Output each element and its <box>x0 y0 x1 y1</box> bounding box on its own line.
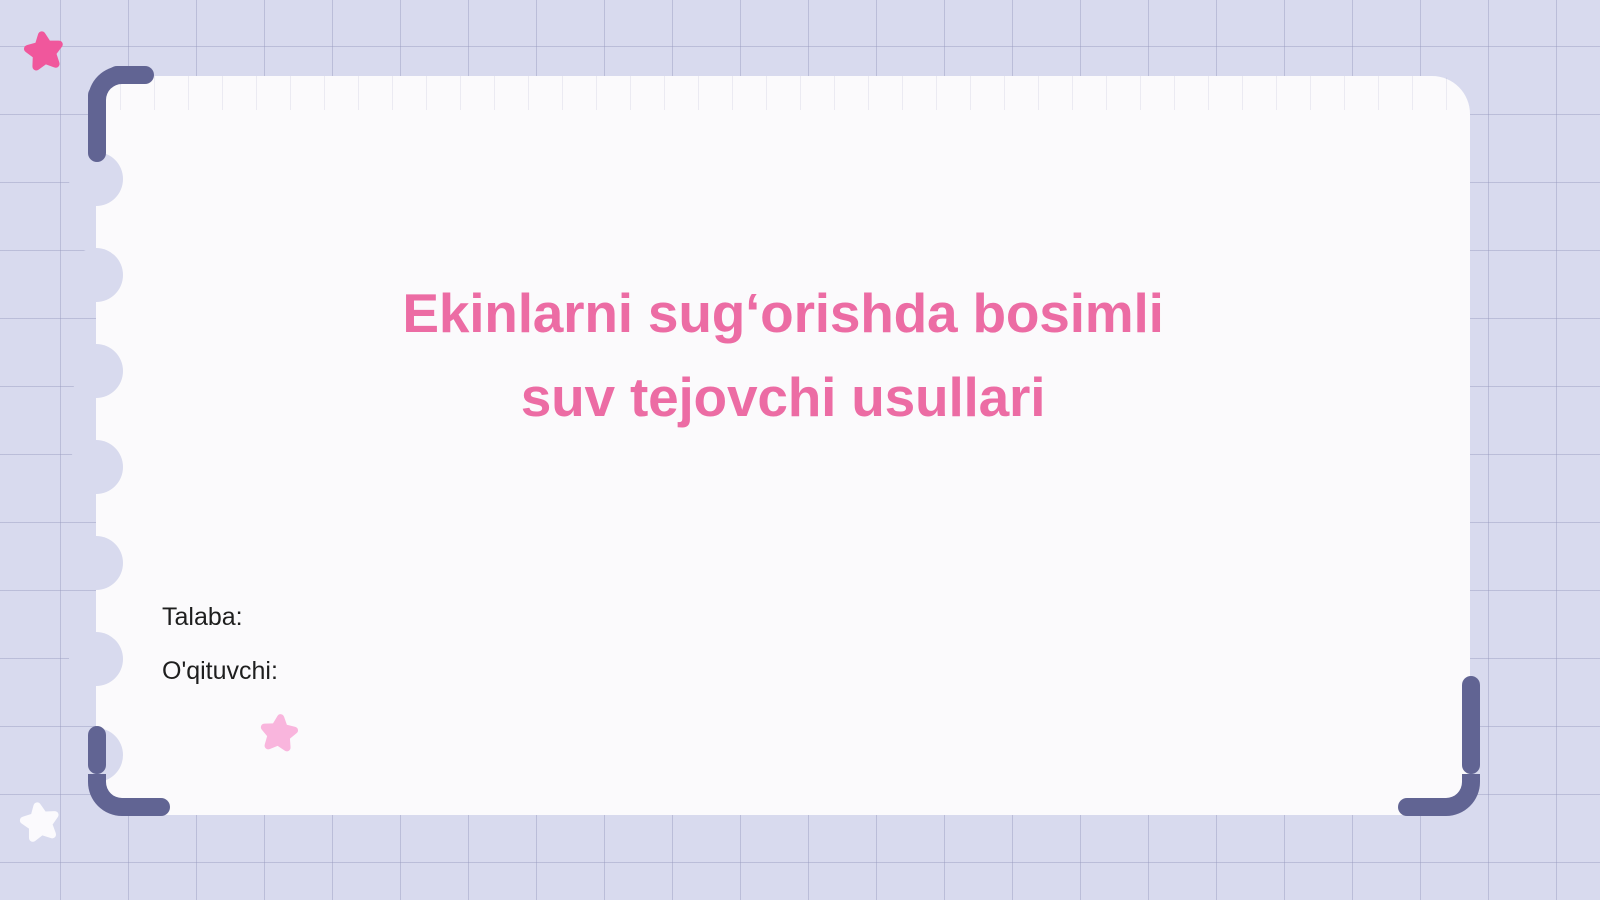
bracket-arm-vertical <box>88 86 106 162</box>
bracket-arm-horizontal <box>120 798 170 816</box>
bracket-arm-horizontal <box>1398 798 1448 816</box>
credits-block: Talaba: O'qituvchi: <box>162 605 278 684</box>
corner-bracket-bottom-right <box>1398 676 1480 816</box>
star-top-left-icon <box>19 26 69 76</box>
teacher-label: O'qituvchi: <box>162 659 278 684</box>
student-label: Talaba: <box>162 605 278 630</box>
card-top-grid-bleed <box>96 76 1470 110</box>
page-title-line-1: Ekinlarni sug‘orishda bosimli <box>96 272 1470 356</box>
page-title-line-2: suv tejovchi usullari <box>96 356 1470 440</box>
slide-canvas: Ekinlarni sug‘orishda bosimli suv tejovc… <box>0 0 1600 900</box>
page-title: Ekinlarni sug‘orishda bosimli suv tejovc… <box>96 272 1470 439</box>
bracket-arm-vertical <box>88 726 106 774</box>
star-bottom-left-icon <box>15 797 66 848</box>
content-card <box>96 76 1470 815</box>
bracket-arm-horizontal <box>108 66 154 84</box>
corner-bracket-bottom-left <box>88 726 170 816</box>
bracket-arm-vertical <box>1462 676 1480 774</box>
corner-bracket-top-left <box>88 66 154 162</box>
star-inside-card-icon <box>256 710 302 756</box>
